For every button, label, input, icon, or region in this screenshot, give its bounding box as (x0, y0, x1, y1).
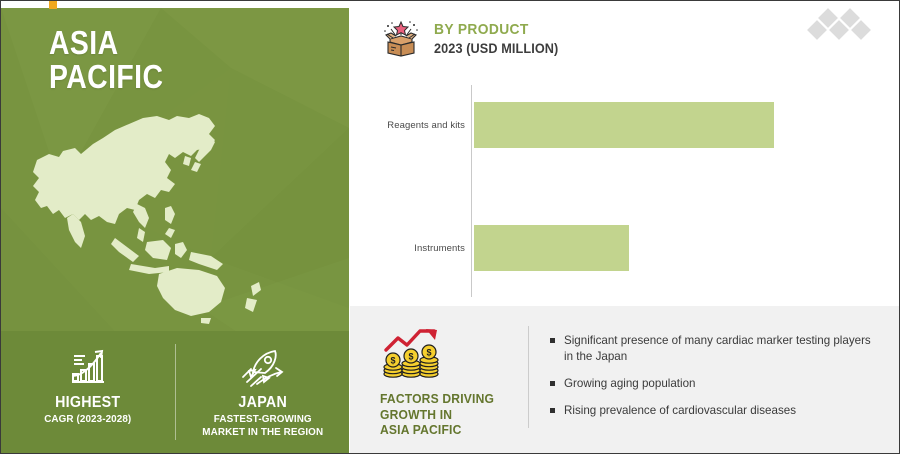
product-box-icon (380, 18, 422, 60)
page-title: ASIA PACIFIC (49, 26, 163, 94)
bar-category-label: Instruments (350, 243, 474, 254)
bullet-square-icon (550, 338, 555, 343)
chart-bar-row: Instruments (350, 225, 900, 271)
chart-panel: BY PRODUCT 2023 (USD MILLION) Reagents a… (350, 2, 900, 306)
list-item: Significant presence of many cardiac mar… (550, 333, 880, 365)
bullet-square-icon (550, 381, 555, 386)
rocket-icon (176, 346, 350, 388)
stat-headline: JAPAN (182, 394, 342, 411)
bar-reagents-and-kits (474, 102, 774, 148)
factors-panel: $ $ $ FACTORS DRIVING GROWTH IN ASIA PAC… (350, 306, 900, 454)
orange-tab-accent (49, 1, 57, 9)
bullet-text: Significant presence of many cardiac mar… (564, 333, 880, 365)
chart-subtitle: 2023 (USD MILLION) (434, 40, 558, 57)
bullet-square-icon (550, 408, 555, 413)
bar-category-label: Reagents and kits (350, 120, 474, 131)
stat-japan-fastest: JAPAN FASTEST-GROWING MARKET IN THE REGI… (176, 338, 350, 439)
factors-bullet-list: Significant presence of many cardiac mar… (550, 333, 880, 430)
list-item: Growing aging population (550, 376, 880, 392)
factors-title: FACTORS DRIVING GROWTH IN ASIA PACIFIC (380, 391, 506, 438)
chart-title: BY PRODUCT (434, 21, 556, 39)
svg-text:$: $ (426, 348, 431, 358)
bar-chart: Reagents and kits Instruments (350, 85, 900, 300)
list-item: Rising prevalence of cardiovascular dise… (550, 403, 880, 419)
svg-text:$: $ (408, 352, 413, 362)
stat-sublabel: FASTEST-GROWING MARKET IN THE REGION (181, 413, 344, 439)
stat-sublabel: CAGR (2023-2028) (6, 413, 169, 426)
stat-headline: HIGHEST (8, 394, 168, 411)
coin-stack-growth-icon: $ $ $ (380, 328, 442, 380)
stats-row: HIGHEST CAGR (2023-2028) (1, 338, 349, 454)
factors-divider (528, 326, 529, 428)
stat-highest-cagr: HIGHEST CAGR (2023-2028) (1, 338, 175, 426)
infographic-root: ASIA PACIFIC (0, 0, 900, 454)
region-panel: ASIA PACIFIC (1, 8, 349, 454)
bullet-text: Growing aging population (564, 376, 696, 392)
svg-text:$: $ (390, 356, 395, 366)
factors-block: $ $ $ FACTORS DRIVING GROWTH IN ASIA PAC… (380, 328, 515, 438)
bar-instruments (474, 225, 629, 271)
asia-pacific-map (19, 104, 339, 326)
bullet-text: Rising prevalence of cardiovascular dise… (564, 403, 796, 419)
growth-bar-chart-icon (1, 346, 175, 388)
chart-header: BY PRODUCT 2023 (USD MILLION) (380, 18, 566, 60)
diamond-cluster-icon (806, 8, 878, 44)
asia-pacific-map-icon (19, 104, 339, 326)
chart-bar-row: Reagents and kits (350, 102, 900, 148)
